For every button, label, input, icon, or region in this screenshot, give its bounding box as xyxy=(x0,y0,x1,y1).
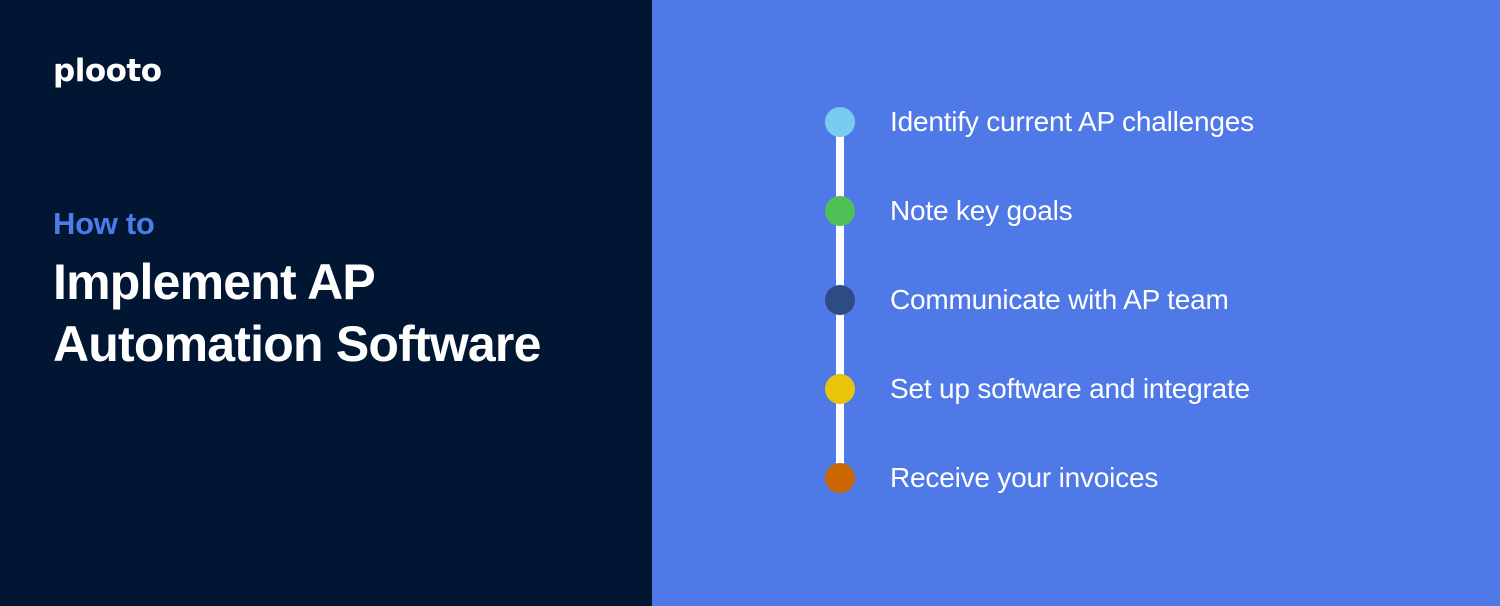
timeline-dot-navy xyxy=(825,285,855,315)
headline-line-2: Automation Software xyxy=(53,313,623,375)
plooto-logo: plooto xyxy=(53,56,162,87)
timeline-step-label: Set up software and integrate xyxy=(890,369,1250,409)
timeline-dot-yellow xyxy=(825,374,855,404)
timeline-dot-light-blue xyxy=(825,107,855,137)
headline-line-1: Implement AP xyxy=(53,251,623,313)
timeline-step-label: Note key goals xyxy=(890,191,1072,231)
infographic-canvas: plooto How to Implement AP Automation So… xyxy=(0,0,1500,606)
timeline-step-label: Identify current AP challenges xyxy=(890,102,1254,142)
timeline-dot-green xyxy=(825,196,855,226)
timeline-dot-orange xyxy=(825,463,855,493)
timeline-step-label: Receive your invoices xyxy=(890,458,1158,498)
right-steps-panel: Identify current AP challengesNote key g… xyxy=(652,0,1500,606)
page-title: Implement AP Automation Software xyxy=(53,251,623,375)
eyebrow-text: How to xyxy=(53,206,623,243)
timeline: Identify current AP challengesNote key g… xyxy=(652,0,1500,606)
timeline-step-label: Communicate with AP team xyxy=(890,280,1229,320)
left-title-panel: plooto How to Implement AP Automation So… xyxy=(0,0,652,606)
headline-block: How to Implement AP Automation Software xyxy=(53,206,623,375)
